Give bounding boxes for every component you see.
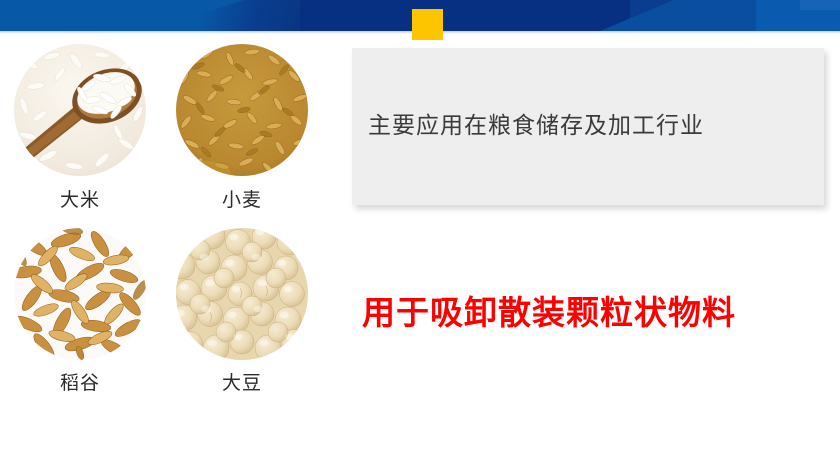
photo-caption-soy: 大豆 <box>176 368 308 395</box>
slide-canvas: 大米 <box>0 0 840 464</box>
yellow-accent-square <box>412 9 443 40</box>
wheat-grain-photo <box>176 44 308 176</box>
header-facet-corner <box>800 0 840 10</box>
header-facet-center <box>300 0 630 31</box>
white-rice-photo <box>14 44 146 176</box>
soybean-photo <box>176 228 308 360</box>
application-note-text: 主要应用在粮食储存及加工行业 <box>368 106 704 140</box>
paddy-rice-photo <box>14 228 146 360</box>
application-note-panel: 主要应用在粮食储存及加工行业 <box>352 48 824 205</box>
photo-caption-rice: 大米 <box>14 185 146 212</box>
photo-caption-wheat: 小麦 <box>176 185 308 212</box>
usage-headline: 用于吸卸散装颗粒状物料 <box>362 286 736 334</box>
photo-caption-paddy: 稻谷 <box>14 368 146 395</box>
